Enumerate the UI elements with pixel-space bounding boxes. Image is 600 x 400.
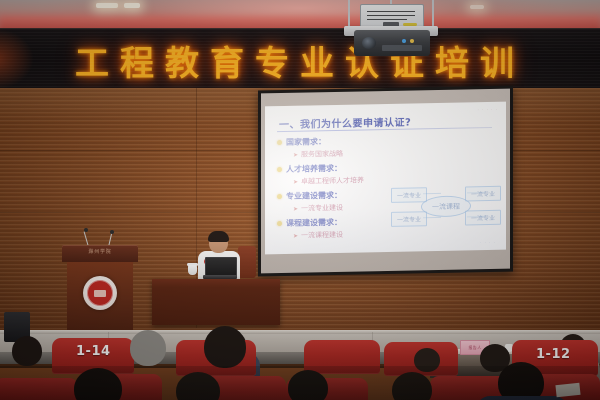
audience-head-b4 xyxy=(392,372,432,400)
projector-body xyxy=(354,30,430,56)
led-banner-glow xyxy=(0,28,34,90)
presenter-laptop xyxy=(203,257,237,280)
led-banner-scanlines xyxy=(0,29,600,91)
slide-subbullet-3: ➤一流专业建设 xyxy=(293,203,343,214)
slide-bullet-3: 专业建设需求： xyxy=(277,190,342,202)
diagram-box-bottom-left: 一流专业 xyxy=(391,211,427,227)
slide-bullet-4-text: 课程建设需求： xyxy=(286,218,342,228)
ceiling-light-3 xyxy=(470,5,484,9)
slide-subbullet-1-text: 服务国家战略 xyxy=(301,150,343,159)
diagram-center-text: 一流课程 xyxy=(432,201,460,212)
bullet-dot-icon xyxy=(277,194,282,199)
projector-vent-1 xyxy=(367,11,415,12)
audience-head-b5 xyxy=(498,362,544,400)
projector-panel xyxy=(382,45,422,51)
arrow-icon: ➤ xyxy=(293,206,298,213)
seat-number-1-12: 1-12 xyxy=(536,347,571,362)
slide-bullet-1-text: 国家需求： xyxy=(286,137,326,147)
presentation-slide: · · · · · 一、我们为什么要申请认证? 国家需求： ➤服务国家战略 人才… xyxy=(265,102,506,255)
slide-bullet-2-text: 人才培养需求： xyxy=(286,164,342,174)
audience-head-a2 xyxy=(130,330,166,366)
slide-bullet-2: 人才培养需求： xyxy=(277,163,342,175)
laptop-screen xyxy=(205,257,237,277)
seat-number-1-14: 1-14 xyxy=(76,344,111,359)
slide-bullet-1: 国家需求： xyxy=(277,136,326,148)
diagram-box-bottom-right: 一流专业 xyxy=(465,210,501,226)
auditorium-photo: 工程教育专业认证培训 · · · · · 一、我们为什 xyxy=(0,0,600,400)
ceiling-light-2 xyxy=(124,3,140,8)
diagram-box-bottom-right-text: 一流专业 xyxy=(471,213,495,222)
projector-vent-2 xyxy=(367,15,415,16)
projection-screen: · · · · · 一、我们为什么要申请认证? 国家需求： ➤服务国家战略 人才… xyxy=(258,86,513,277)
projector-power-led xyxy=(410,39,414,43)
projector-vent-3 xyxy=(367,19,407,20)
slide-logo: · · · · · xyxy=(478,107,498,112)
seat-row-a-3 xyxy=(304,340,380,374)
diagram-box-top-left: 一流专业 xyxy=(391,187,427,203)
projector-lens xyxy=(362,37,376,49)
audience-area: 1-14 1-12 12 xyxy=(0,300,600,400)
ceiling-mounted-projector xyxy=(332,0,450,56)
diagram-box-top-right: 一流专业 xyxy=(465,186,501,202)
slide-subbullet-3-text: 一流专业建设 xyxy=(301,204,343,213)
diagram-box-bottom-left-text: 一流专业 xyxy=(397,214,421,223)
bullet-dot-icon xyxy=(277,221,282,226)
diagram-box-top-right-text: 一流专业 xyxy=(471,189,495,198)
bullet-dot-icon xyxy=(277,140,282,145)
slide-bullet-3-text: 专业建设需求： xyxy=(286,191,342,201)
slide-subbullet-4: ➤一流课程建设 xyxy=(293,230,343,241)
arrow-icon: ➤ xyxy=(293,152,298,159)
audience-head-a4 xyxy=(414,348,440,372)
audience-shoulder-b5 xyxy=(476,396,568,400)
emblem-mark xyxy=(94,290,106,297)
ceiling-light-1 xyxy=(96,3,118,8)
slide-bullet-4: 课程建设需求： xyxy=(277,217,342,229)
diagram-box-top-left-text: 一流专业 xyxy=(397,190,421,199)
slide-subbullet-1: ➤服务国家战略 xyxy=(293,149,343,160)
slide-footer: · · · · xyxy=(480,240,496,245)
arrow-icon: ➤ xyxy=(293,179,298,186)
tea-cup xyxy=(188,265,197,275)
audience-head-b3 xyxy=(288,370,328,400)
diagram-center-oval: 一流课程 xyxy=(421,195,471,217)
podium-microphone-left-head xyxy=(84,228,88,232)
podium-microphone-right-head xyxy=(110,230,114,234)
slide-subbullet-2: ➤卓越工程师人才培养 xyxy=(293,175,364,186)
bullet-dot-icon xyxy=(277,167,282,172)
audience-head-a1 xyxy=(12,336,42,366)
projector-status-led xyxy=(402,39,406,43)
podium-name-plate: 滁州学院 xyxy=(62,248,138,255)
audience-paper xyxy=(555,383,580,397)
arrow-icon: ➤ xyxy=(293,233,298,240)
presenter-glasses xyxy=(210,240,227,245)
audience-head-a3 xyxy=(204,326,246,368)
seat-row-b-1 xyxy=(0,378,78,400)
slide-subbullet-4-text: 一流课程建设 xyxy=(301,231,343,240)
led-banner: 工程教育专业认证培训 xyxy=(0,28,600,93)
slide-subbullet-2-text: 卓越工程师人才培养 xyxy=(301,176,364,185)
